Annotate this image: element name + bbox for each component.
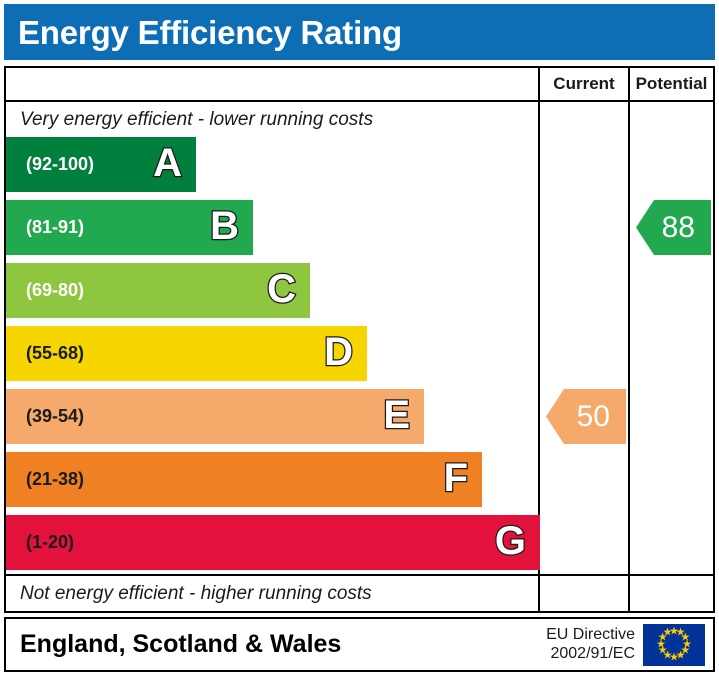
rating-bands: (92-100)A(81-91)B(69-80)C(55-68)D(39-54)… [6, 137, 538, 580]
rating-marker-value: 50 [577, 400, 610, 434]
band-range-label: (69-80) [6, 280, 84, 301]
band-letter-c: C [267, 269, 310, 309]
band-range-label: (81-91) [6, 217, 84, 238]
band-letter-a: A [153, 143, 196, 183]
rating-band-d: (55-68)D [6, 326, 367, 381]
page-title: Energy Efficiency Rating [4, 16, 402, 49]
rating-marker-potential: 88 [636, 200, 711, 255]
band-range-label: (92-100) [6, 154, 94, 175]
band-letter-b: B [210, 206, 253, 246]
footer-region-label: England, Scotland & Wales [6, 632, 546, 657]
rating-band-f: (21-38)F [6, 452, 482, 507]
column-header-current: Current [540, 68, 628, 100]
caption-bottom: Not energy efficient - higher running co… [6, 576, 538, 611]
band-range-label: (39-54) [6, 406, 84, 427]
chart-title-bar: Energy Efficiency Rating [4, 4, 715, 60]
eu-directive-line1: EU Directive [546, 626, 635, 644]
caption-top: Very energy efficient - lower running co… [6, 102, 538, 137]
band-range-label: (55-68) [6, 343, 84, 364]
rating-band-c: (69-80)C [6, 263, 310, 318]
eu-flag-icon: ★★★★★★★★★★★★ [643, 624, 705, 666]
rating-marker-value: 88 [662, 211, 695, 245]
rating-band-b: (81-91)B [6, 200, 253, 255]
band-letter-d: D [324, 332, 367, 372]
rating-band-a: (92-100)A [6, 137, 196, 192]
eu-directive-line2: 2002/91/EC [546, 645, 635, 663]
rating-band-g: (1-20)G [6, 515, 540, 570]
epc-certificate: Energy Efficiency Rating Current Potenti… [0, 0, 719, 676]
eu-star: ★ [663, 628, 673, 639]
band-letter-f: F [444, 458, 482, 498]
column-header-potential: Potential [630, 68, 713, 100]
band-letter-e: E [383, 395, 424, 435]
band-range-label: (21-38) [6, 469, 84, 490]
eu-directive-text: EU Directive 2002/91/EC [546, 626, 643, 663]
rating-band-e: (39-54)E [6, 389, 424, 444]
band-letter-g: G [495, 521, 540, 561]
rating-chart-frame: Current Potential Very energy efficient … [4, 66, 715, 613]
footer-bar: England, Scotland & Wales EU Directive 2… [4, 617, 715, 672]
rating-marker-current: 50 [546, 389, 626, 444]
band-range-label: (1-20) [6, 532, 74, 553]
column-divider-potential [628, 68, 630, 611]
